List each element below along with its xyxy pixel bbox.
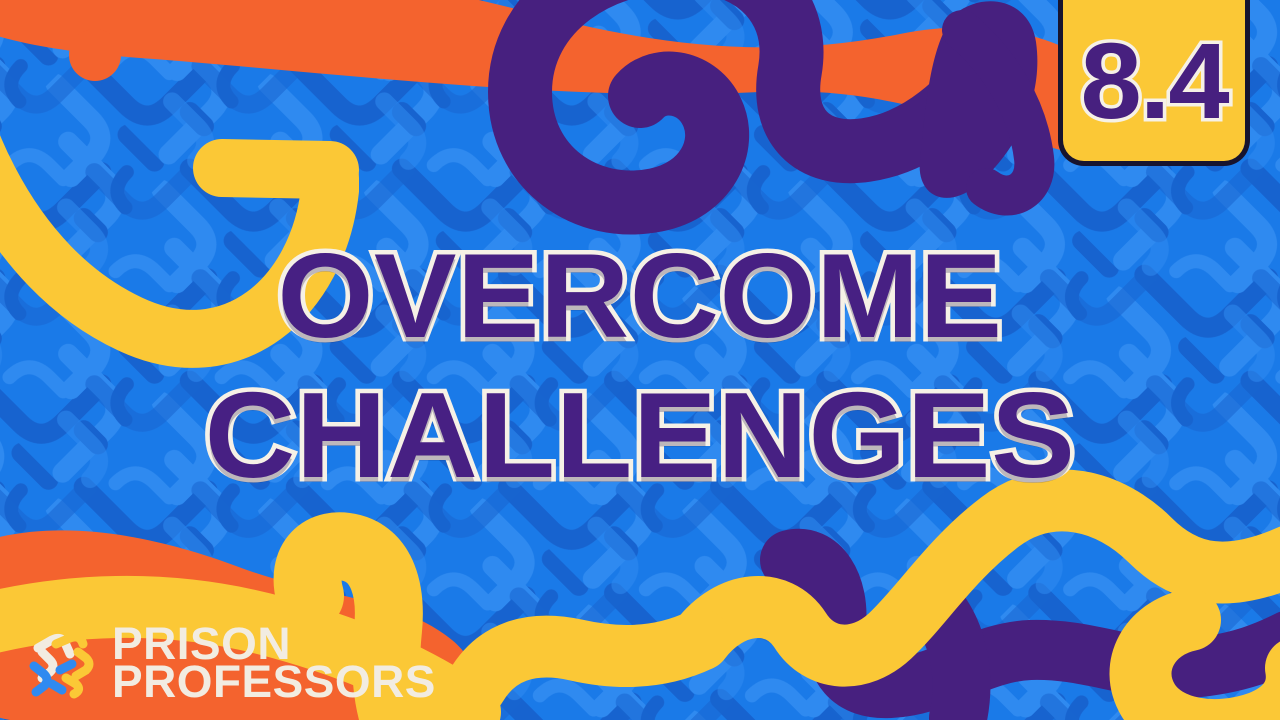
lesson-number-badge: 8.4 — [1058, 0, 1250, 166]
slide-canvas: OVERCOME CHALLENGES 8.4 PRISON — [0, 0, 1280, 720]
broken-chain-icon — [26, 626, 100, 700]
lesson-number-value: 8.4 — [1080, 27, 1227, 161]
orange-dot-topleft — [69, 29, 121, 81]
brand-word-2: PROFESSORS — [112, 663, 436, 702]
brand-wordmark: PRISON PROFESSORS — [112, 625, 430, 702]
brand-logo: PRISON PROFESSORS — [26, 625, 430, 702]
